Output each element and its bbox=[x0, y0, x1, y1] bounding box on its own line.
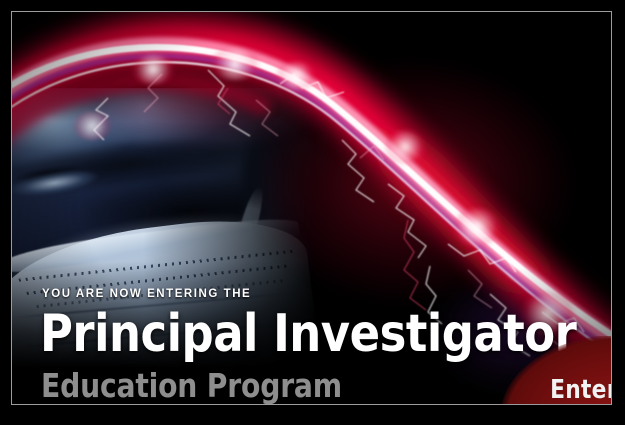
kicker-text: YOU ARE NOW ENTERING THE bbox=[42, 289, 251, 301]
streak-bloom bbox=[452, 208, 502, 246]
enter-button[interactable]: Enter bbox=[500, 336, 611, 404]
streak-bloom bbox=[130, 54, 176, 84]
page-subtitle: Education Program bbox=[41, 369, 342, 402]
splash-artwork: YOU ARE NOW ENTERING THE Principal Inves… bbox=[12, 12, 611, 404]
splash-screen: YOU ARE NOW ENTERING THE Principal Inves… bbox=[0, 0, 625, 425]
streak-bloom bbox=[384, 130, 426, 164]
enter-button-label: Enter bbox=[550, 377, 611, 403]
streak-bloom bbox=[208, 48, 262, 80]
page-title: Principal Investigator bbox=[40, 308, 576, 360]
streak-bloom bbox=[274, 62, 318, 90]
